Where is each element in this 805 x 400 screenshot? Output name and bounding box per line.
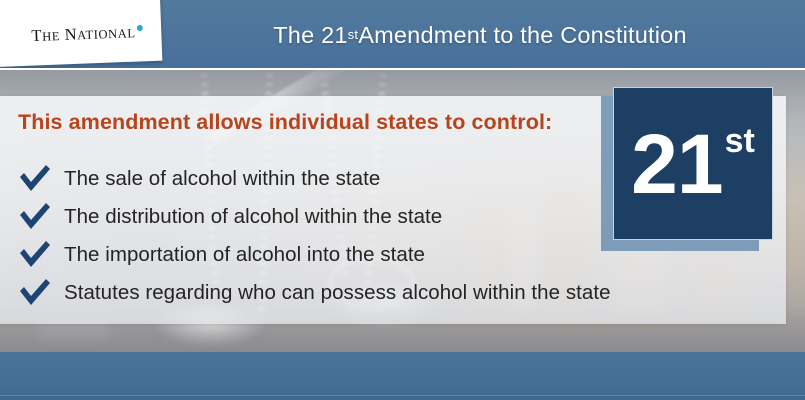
list-item: Statutes regarding who can possess alcoh… (18, 274, 758, 312)
header-bar: THE NATIONAL The 21st Amendment to the C… (0, 0, 805, 70)
logo-flourish-icon (58, 39, 115, 57)
list-item-label: Statutes regarding who can possess alcoh… (64, 281, 611, 305)
badge-ordinal: st (725, 124, 755, 158)
list-item-label: The importation of alcohol into the stat… (64, 243, 425, 267)
page-title: The 21st Amendment to the Constitution (175, 0, 785, 70)
list-item-label: The distribution of alcohol within the s… (64, 205, 442, 229)
amendment-number-badge: 21st (613, 87, 773, 240)
page-title-after: Amendment to the Constitution (358, 22, 686, 49)
page-title-before: The 21 (273, 22, 347, 49)
registered-mark-icon (136, 24, 142, 30)
header-divider (0, 68, 805, 70)
list-item-label: The sale of alcohol within the state (64, 167, 380, 191)
check-icon (18, 164, 52, 194)
lead-heading: This amendment allows individual states … (18, 110, 552, 135)
infographic-canvas: THE NATIONAL The 21st Amendment to the C… (0, 0, 805, 400)
check-icon (18, 278, 52, 308)
badge-number: 21 (631, 122, 722, 206)
check-icon (18, 240, 52, 270)
check-icon (18, 202, 52, 232)
logo-letter-t: T (31, 26, 42, 45)
footer-divider (0, 395, 805, 396)
footer-bar (0, 352, 805, 400)
